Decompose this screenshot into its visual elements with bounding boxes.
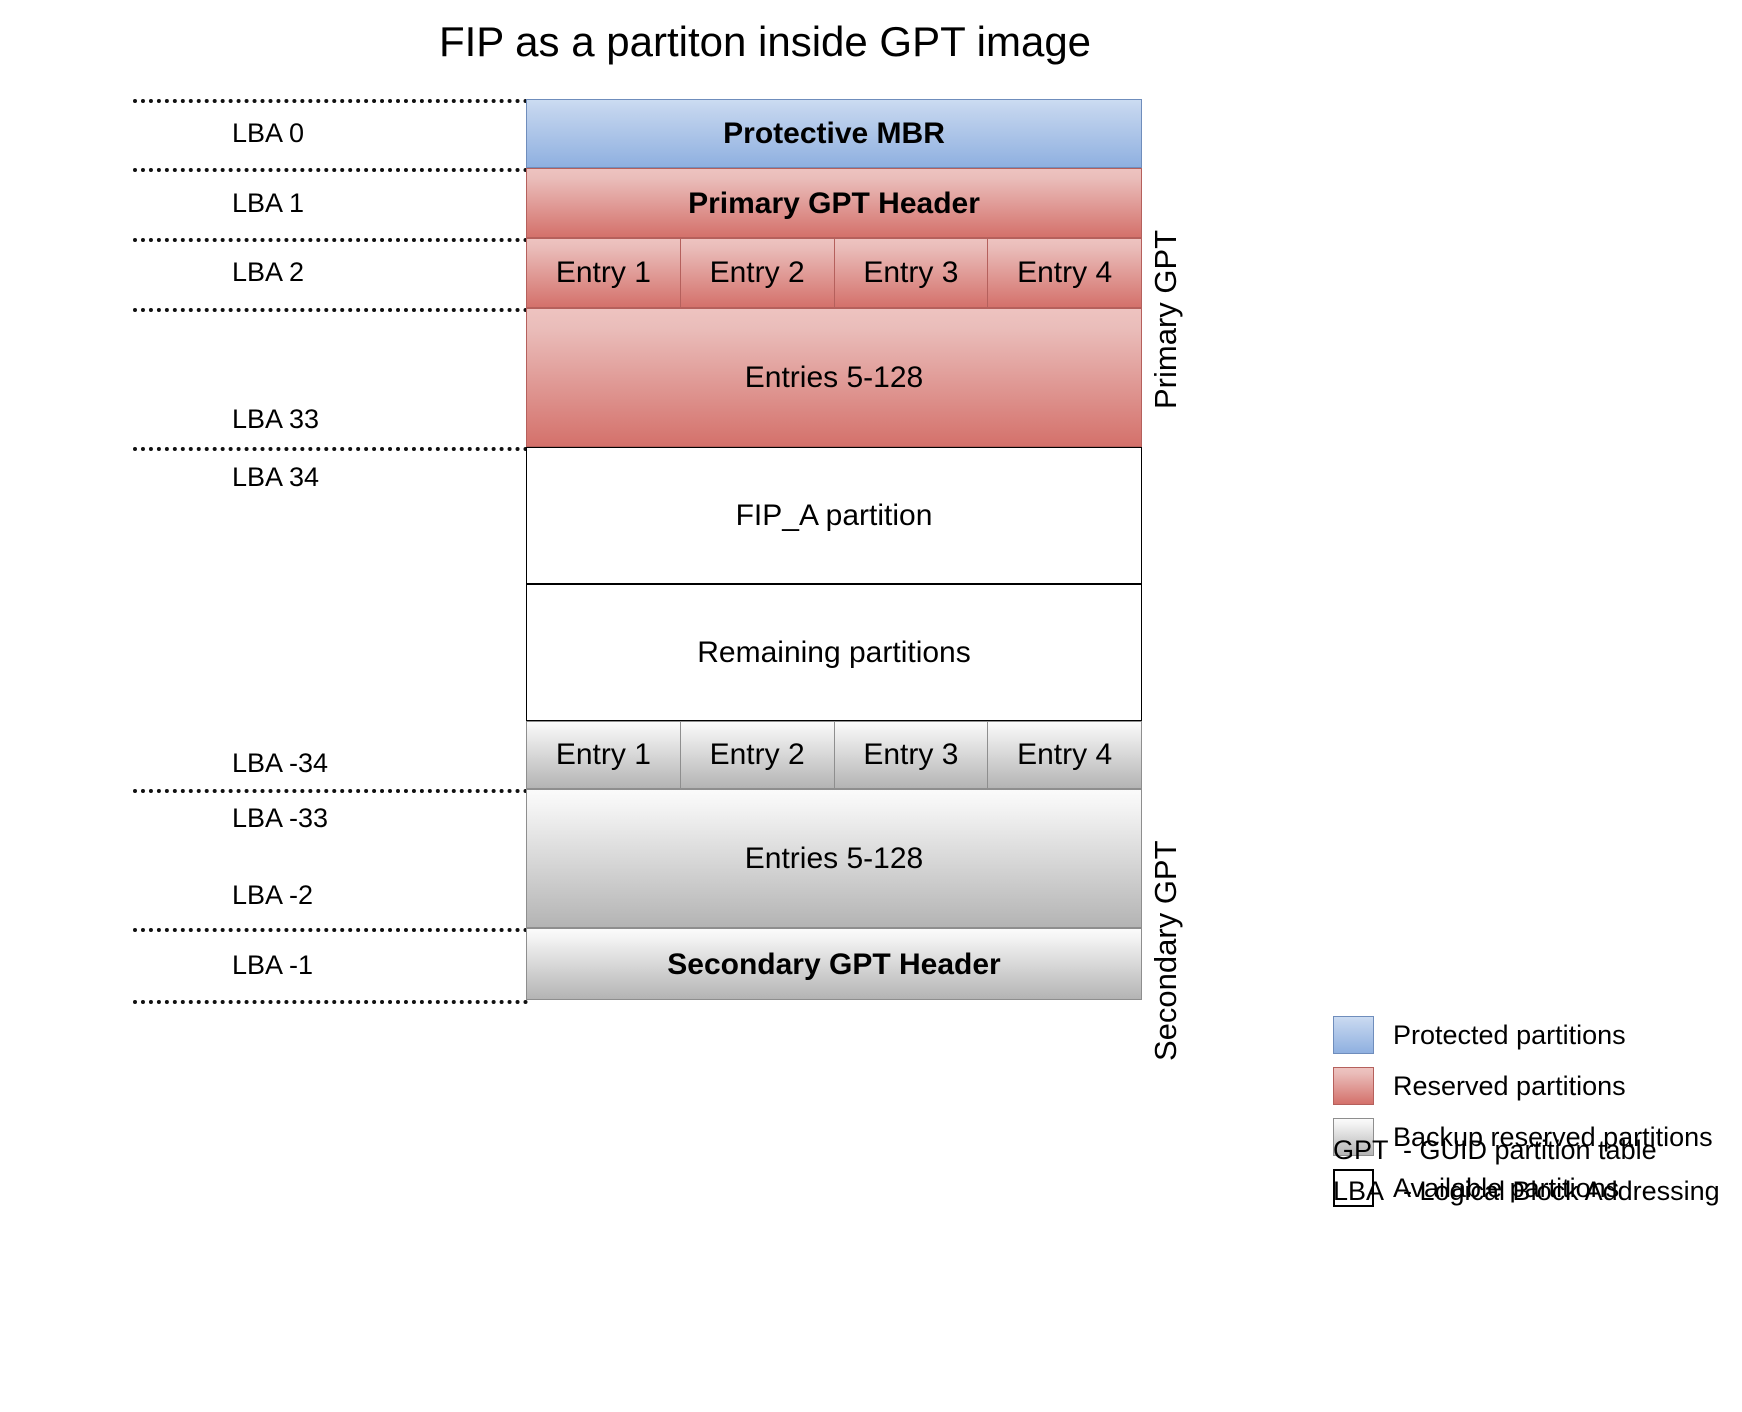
guide-line [133,1000,528,1004]
partition-band-label: Entries 5-128 [745,842,923,875]
partition-band-primary-gpt-header: Primary GPT Header [526,168,1142,238]
guide-line [133,99,528,103]
legend-item: Reserved partitions [1333,1061,1733,1111]
page-title: FIP as a partiton inside GPT image [0,18,1530,66]
partition-band-label: Protective MBR [723,117,945,150]
entry-cell: Entry 3 [835,238,989,308]
guide-line [133,447,528,451]
lba-label: LBA 1 [232,190,304,217]
abbreviation-row: GPT- GUID partition table [1333,1135,1733,1176]
lba-label: LBA 0 [232,120,304,147]
partition-band-label: Secondary GPT Header [667,948,1000,981]
partition-band-primary-entries-5-128: Entries 5-128 [526,308,1142,447]
abbreviation-definition: - GUID partition table [1403,1135,1733,1166]
lba-label: LBA -33 [232,805,328,832]
legend-swatch-red [1333,1067,1374,1105]
lba-label: LBA -2 [232,882,313,909]
entry-cell: Entry 4 [988,721,1142,789]
abbreviation-term: GPT [1333,1135,1403,1166]
partition-band-label: FIP_A partition [736,499,933,532]
lba-label: LBA 34 [232,464,319,491]
abbreviation-row: LBA- Logical Block Addressing [1333,1176,1733,1217]
side-label-secondary-gpt: Secondary GPT [1148,806,1184,1096]
abbreviation-term: LBA [1333,1176,1403,1207]
partition-stack: Protective MBRPrimary GPT HeaderEntry 1E… [526,99,1142,1000]
partition-band-primary-entries-1-4: Entry 1Entry 2Entry 3Entry 4 [526,238,1142,308]
partition-band-label: Remaining partitions [697,636,970,669]
partition-band-secondary-entries-5-128: Entries 5-128 [526,789,1142,928]
side-label-primary-gpt: Primary GPT [1148,196,1184,442]
legend-swatch-blue [1333,1016,1374,1054]
partition-band-fip-a-partition: FIP_A partition [526,447,1142,584]
lba-label: LBA 33 [232,406,319,433]
guide-line [133,789,528,793]
legend-label: Protected partitions [1393,1020,1626,1051]
partition-band-remaining-partitions: Remaining partitions [526,584,1142,721]
partition-band-label: Entries 5-128 [745,361,923,394]
legend-item: Protected partitions [1333,1010,1733,1060]
partition-band-secondary-entries-1-4: Entry 1Entry 2Entry 3Entry 4 [526,721,1142,789]
partition-band-protective-mbr: Protective MBR [526,99,1142,168]
partition-band-label: Primary GPT Header [688,187,980,220]
guide-line [133,238,528,242]
abbreviation-key: GPT- GUID partition tableLBA- Logical Bl… [1333,1135,1733,1217]
entry-cell: Entry 2 [681,721,835,789]
legend-label: Reserved partitions [1393,1071,1626,1102]
entry-cell: Entry 1 [526,721,681,789]
entry-cell: Entry 3 [835,721,989,789]
guide-line [133,308,528,312]
entry-cell: Entry 2 [681,238,835,308]
abbreviation-definition: - Logical Block Addressing [1403,1176,1733,1207]
lba-label: LBA 2 [232,259,304,286]
guide-line [133,168,528,172]
lba-label: LBA -34 [232,750,328,777]
entry-cell: Entry 1 [526,238,681,308]
guide-line [133,928,528,932]
partition-band-secondary-gpt-header: Secondary GPT Header [526,928,1142,1000]
entry-cell: Entry 4 [988,238,1142,308]
lba-label: LBA -1 [232,952,313,979]
